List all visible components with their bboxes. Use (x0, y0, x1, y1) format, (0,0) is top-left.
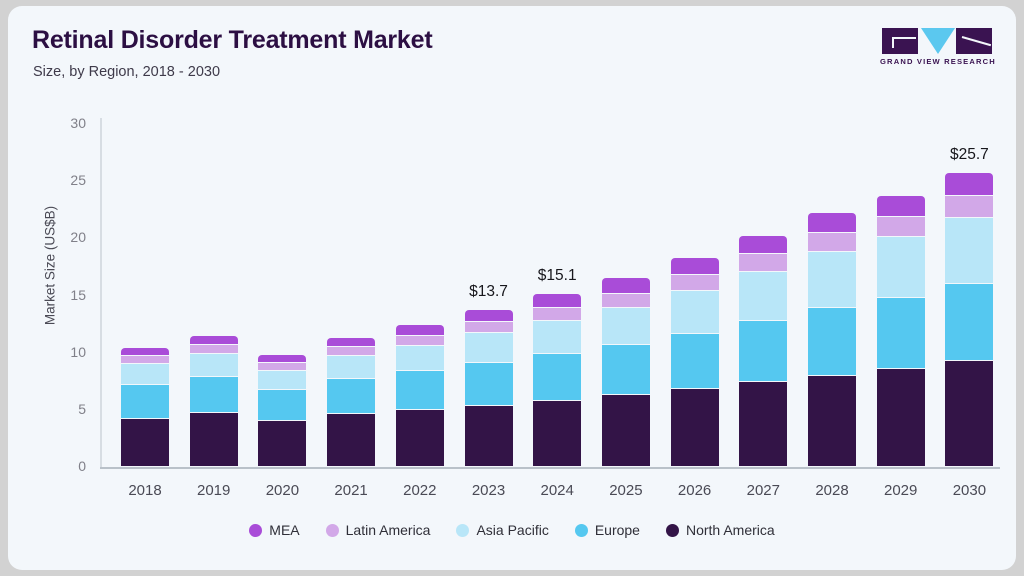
bar-stack[interactable] (602, 278, 650, 467)
legend-swatch-icon (456, 524, 469, 537)
bar-segment-north-america[interactable] (877, 369, 925, 467)
y-tick-label: 10 (48, 344, 86, 360)
bar-segment-europe[interactable] (533, 354, 581, 401)
bar-stack[interactable] (739, 236, 787, 467)
x-tick-label: 2029 (866, 482, 936, 499)
bar-segment-europe[interactable] (671, 334, 719, 389)
bar-segment-north-america[interactable] (465, 406, 513, 467)
legend-swatch-icon (575, 524, 588, 537)
legend-item-mea[interactable]: MEA (249, 522, 299, 538)
bar-stack[interactable] (877, 196, 925, 467)
bar-segment-north-america[interactable] (533, 401, 581, 467)
bar-stack[interactable] (945, 173, 993, 467)
bar-segment-north-america[interactable] (602, 395, 650, 467)
bar-segment-europe[interactable] (258, 390, 306, 421)
bar-segment-latin-america[interactable] (945, 196, 993, 218)
legend-swatch-icon (249, 524, 262, 537)
bar-segment-mea[interactable] (190, 336, 238, 345)
bar-segment-latin-america[interactable] (258, 363, 306, 371)
bar-segment-europe[interactable] (945, 284, 993, 361)
bar-stack[interactable] (258, 355, 306, 467)
bar-segment-latin-america[interactable] (190, 345, 238, 354)
bar-segment-latin-america[interactable] (602, 294, 650, 308)
bar-segment-europe[interactable] (327, 379, 375, 414)
bar-segment-mea[interactable] (602, 278, 650, 294)
y-tick-label: 0 (48, 458, 86, 474)
bar-segment-europe[interactable] (190, 377, 238, 414)
bar-stack[interactable] (396, 325, 444, 467)
bar-segment-asia-pacific[interactable] (121, 364, 169, 385)
legend-item-label: MEA (269, 522, 299, 538)
bar-segment-latin-america[interactable] (121, 356, 169, 364)
x-tick-label: 2026 (660, 482, 730, 499)
bar-segment-europe[interactable] (877, 298, 925, 369)
legend-item-latin-america[interactable]: Latin America (326, 522, 431, 538)
bar-segment-asia-pacific[interactable] (327, 356, 375, 379)
x-tick-label: 2027 (728, 482, 798, 499)
bar-segment-asia-pacific[interactable] (945, 218, 993, 284)
x-tick-label: 2023 (454, 482, 524, 499)
legend-swatch-icon (666, 524, 679, 537)
bar-segment-north-america[interactable] (945, 361, 993, 467)
bar-segment-north-america[interactable] (190, 413, 238, 467)
x-tick-label: 2018 (110, 482, 180, 499)
bar-segment-latin-america[interactable] (465, 322, 513, 333)
bar-segment-north-america[interactable] (121, 419, 169, 467)
bar-segment-mea[interactable] (533, 294, 581, 308)
bar-stack[interactable] (465, 310, 513, 467)
x-tick-label: 2022 (385, 482, 455, 499)
y-tick-label: 5 (48, 401, 86, 417)
bar-segment-north-america[interactable] (671, 389, 719, 467)
y-tick-label: 25 (48, 172, 86, 188)
bar-segment-north-america[interactable] (739, 382, 787, 467)
bar-stack[interactable] (533, 294, 581, 467)
bar-segment-north-america[interactable] (327, 414, 375, 467)
bar-segment-latin-america[interactable] (533, 308, 581, 321)
legend-item-label: Asia Pacific (476, 522, 548, 538)
y-tick-label: 20 (48, 229, 86, 245)
chart-plot-area: Market Size (US$B) 051015202530 $13.7$15… (8, 6, 1016, 570)
bar-segment-latin-america[interactable] (327, 347, 375, 356)
legend-item-label: Latin America (346, 522, 431, 538)
y-tick-label: 15 (48, 287, 86, 303)
bar-stack[interactable] (808, 213, 856, 467)
bar-segment-mea[interactable] (808, 213, 856, 232)
bar-segment-asia-pacific[interactable] (396, 346, 444, 371)
bar-value-label: $15.1 (512, 267, 602, 285)
bar-segment-latin-america[interactable] (877, 217, 925, 238)
y-axis-line (100, 118, 102, 468)
bar-segment-europe[interactable] (739, 321, 787, 383)
legend-item-label: Europe (595, 522, 640, 538)
bar-segment-asia-pacific[interactable] (190, 354, 238, 377)
bar-segment-europe[interactable] (396, 371, 444, 410)
bar-segment-asia-pacific[interactable] (739, 272, 787, 321)
bar-stack[interactable] (121, 348, 169, 467)
bar-segment-asia-pacific[interactable] (533, 321, 581, 354)
chart-legend: MEALatin AmericaAsia PacificEuropeNorth … (8, 522, 1016, 538)
bar-segment-mea[interactable] (465, 310, 513, 321)
bar-segment-mea[interactable] (945, 173, 993, 196)
x-tick-label: 2024 (522, 482, 592, 499)
bar-segment-mea[interactable] (877, 196, 925, 217)
bar-value-label: $13.7 (444, 283, 534, 301)
y-axis-title: Market Size (US$B) (43, 186, 58, 346)
legend-item-north-america[interactable]: North America (666, 522, 775, 538)
legend-item-label: North America (686, 522, 775, 538)
bar-segment-mea[interactable] (121, 348, 169, 356)
legend-swatch-icon (326, 524, 339, 537)
bar-segment-mea[interactable] (258, 355, 306, 363)
bar-segment-asia-pacific[interactable] (465, 333, 513, 363)
bar-segment-europe[interactable] (121, 385, 169, 419)
bar-segment-asia-pacific[interactable] (877, 237, 925, 298)
bar-segment-north-america[interactable] (258, 421, 306, 467)
bar-segment-mea[interactable] (396, 325, 444, 335)
x-tick-label: 2030 (934, 482, 1004, 499)
legend-item-asia-pacific[interactable]: Asia Pacific (456, 522, 548, 538)
bar-stack[interactable] (327, 338, 375, 467)
bar-segment-north-america[interactable] (396, 410, 444, 467)
bar-segment-asia-pacific[interactable] (808, 252, 856, 308)
x-tick-label: 2021 (316, 482, 386, 499)
bar-stack[interactable] (190, 336, 238, 467)
bar-segment-europe[interactable] (602, 345, 650, 395)
bar-segment-mea[interactable] (671, 258, 719, 275)
bar-segment-latin-america[interactable] (671, 275, 719, 291)
bar-value-label: $25.7 (924, 146, 1014, 164)
bar-segment-latin-america[interactable] (396, 336, 444, 346)
legend-item-europe[interactable]: Europe (575, 522, 640, 538)
y-tick-label: 30 (48, 115, 86, 131)
bar-segment-asia-pacific[interactable] (671, 291, 719, 334)
bar-segment-asia-pacific[interactable] (258, 371, 306, 390)
bar-segment-latin-america[interactable] (808, 233, 856, 252)
chart-card: Retinal Disorder Treatment Market Size, … (8, 6, 1016, 570)
bar-segment-europe[interactable] (465, 363, 513, 406)
x-tick-label: 2025 (591, 482, 661, 499)
bar-segment-north-america[interactable] (808, 376, 856, 467)
x-tick-label: 2020 (247, 482, 317, 499)
bar-segment-asia-pacific[interactable] (602, 308, 650, 345)
bar-segment-europe[interactable] (808, 308, 856, 375)
bar-segment-mea[interactable] (327, 338, 375, 347)
bar-stack[interactable] (671, 258, 719, 467)
x-tick-label: 2028 (797, 482, 867, 499)
bar-segment-latin-america[interactable] (739, 254, 787, 271)
bar-segment-mea[interactable] (739, 236, 787, 254)
x-tick-label: 2019 (179, 482, 249, 499)
